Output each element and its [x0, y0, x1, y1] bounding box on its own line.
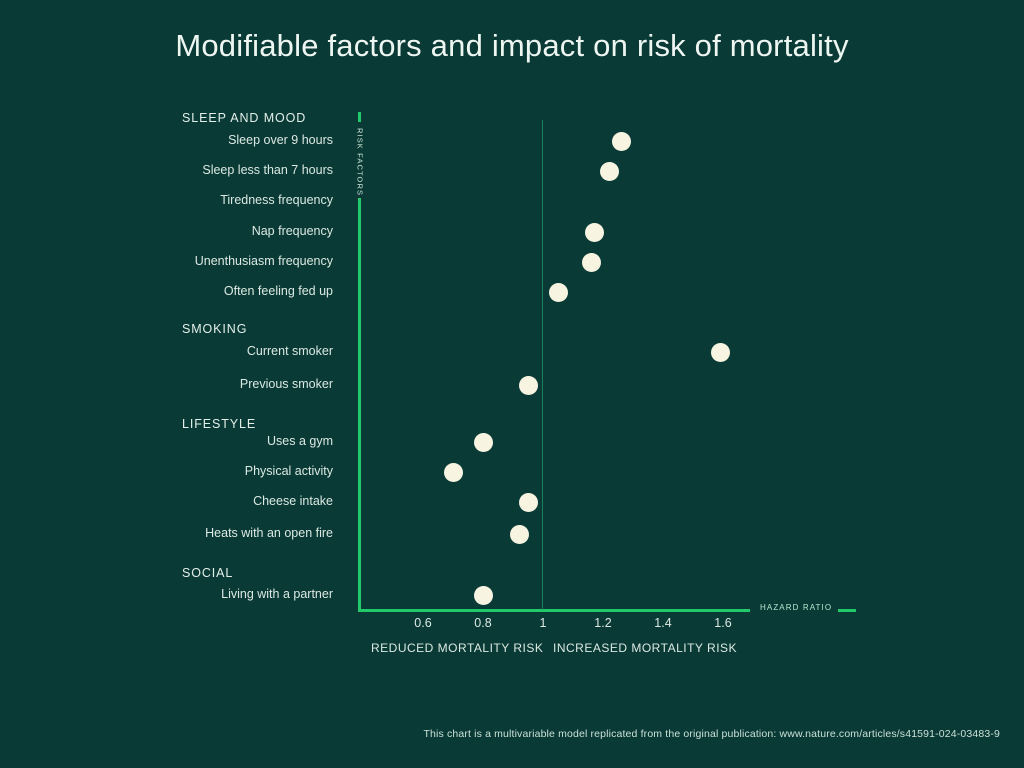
x-tick-label: 1.4: [654, 616, 671, 630]
risk-factor-label: Often feeling fed up: [224, 284, 333, 298]
y-axis-line-top: [358, 112, 361, 122]
category-header: SLEEP AND MOOD: [182, 111, 306, 125]
risk-factor-label: Sleep less than 7 hours: [202, 163, 333, 177]
x-tick-label: 1.6: [714, 616, 731, 630]
x-tick-label: 1: [540, 616, 547, 630]
source-note: This chart is a multivariable model repl…: [423, 728, 1000, 740]
category-header: SMOKING: [182, 322, 247, 336]
y-axis-line-bottom: [358, 198, 361, 612]
x-axis-line-tail: [838, 609, 856, 612]
risk-factor-label: Nap frequency: [252, 224, 333, 238]
category-header: SOCIAL: [182, 566, 233, 580]
data-point-marker: [549, 283, 568, 302]
data-point-marker: [519, 493, 538, 512]
x-axis-line: [358, 609, 750, 612]
hazard-ratio-reference-line: [542, 120, 543, 610]
x-tick-label: 1.2: [594, 616, 611, 630]
risk-factor-label: Current smoker: [247, 344, 333, 358]
x-tick-label: 0.6: [414, 616, 431, 630]
data-point-marker: [474, 586, 493, 605]
x-axis-title: HAZARD RATIO: [760, 603, 832, 612]
reduced-risk-label: REDUCED MORTALITY RISK: [371, 641, 543, 655]
data-point-marker: [519, 376, 538, 395]
y-axis-title: RISK FACTORS: [352, 128, 368, 196]
risk-factor-label: Unenthusiasm frequency: [195, 254, 333, 268]
data-point-marker: [600, 162, 619, 181]
data-point-marker: [582, 253, 601, 272]
risk-factor-label: Sleep over 9 hours: [228, 133, 333, 147]
data-point-marker: [510, 525, 529, 544]
risk-factor-label: Uses a gym: [267, 434, 333, 448]
risk-factor-label: Previous smoker: [240, 377, 333, 391]
x-tick-label: 0.8: [474, 616, 491, 630]
data-point-marker: [474, 433, 493, 452]
risk-factor-label: Living with a partner: [221, 587, 333, 601]
risk-factor-label: Cheese intake: [253, 494, 333, 508]
increased-risk-label: INCREASED MORTALITY RISK: [553, 641, 737, 655]
scatter-plot-canvas: RISK FACTORS HAZARD RATIO SLEEP AND MOOD…: [0, 0, 1024, 768]
category-header: LIFESTYLE: [182, 417, 256, 431]
risk-factor-label: Physical activity: [245, 464, 333, 478]
data-point-marker: [444, 463, 463, 482]
data-point-marker: [585, 223, 604, 242]
risk-factor-label: Heats with an open fire: [205, 526, 333, 540]
data-point-marker: [711, 343, 730, 362]
data-point-marker: [612, 132, 631, 151]
risk-factor-label: Tiredness frequency: [220, 193, 333, 207]
